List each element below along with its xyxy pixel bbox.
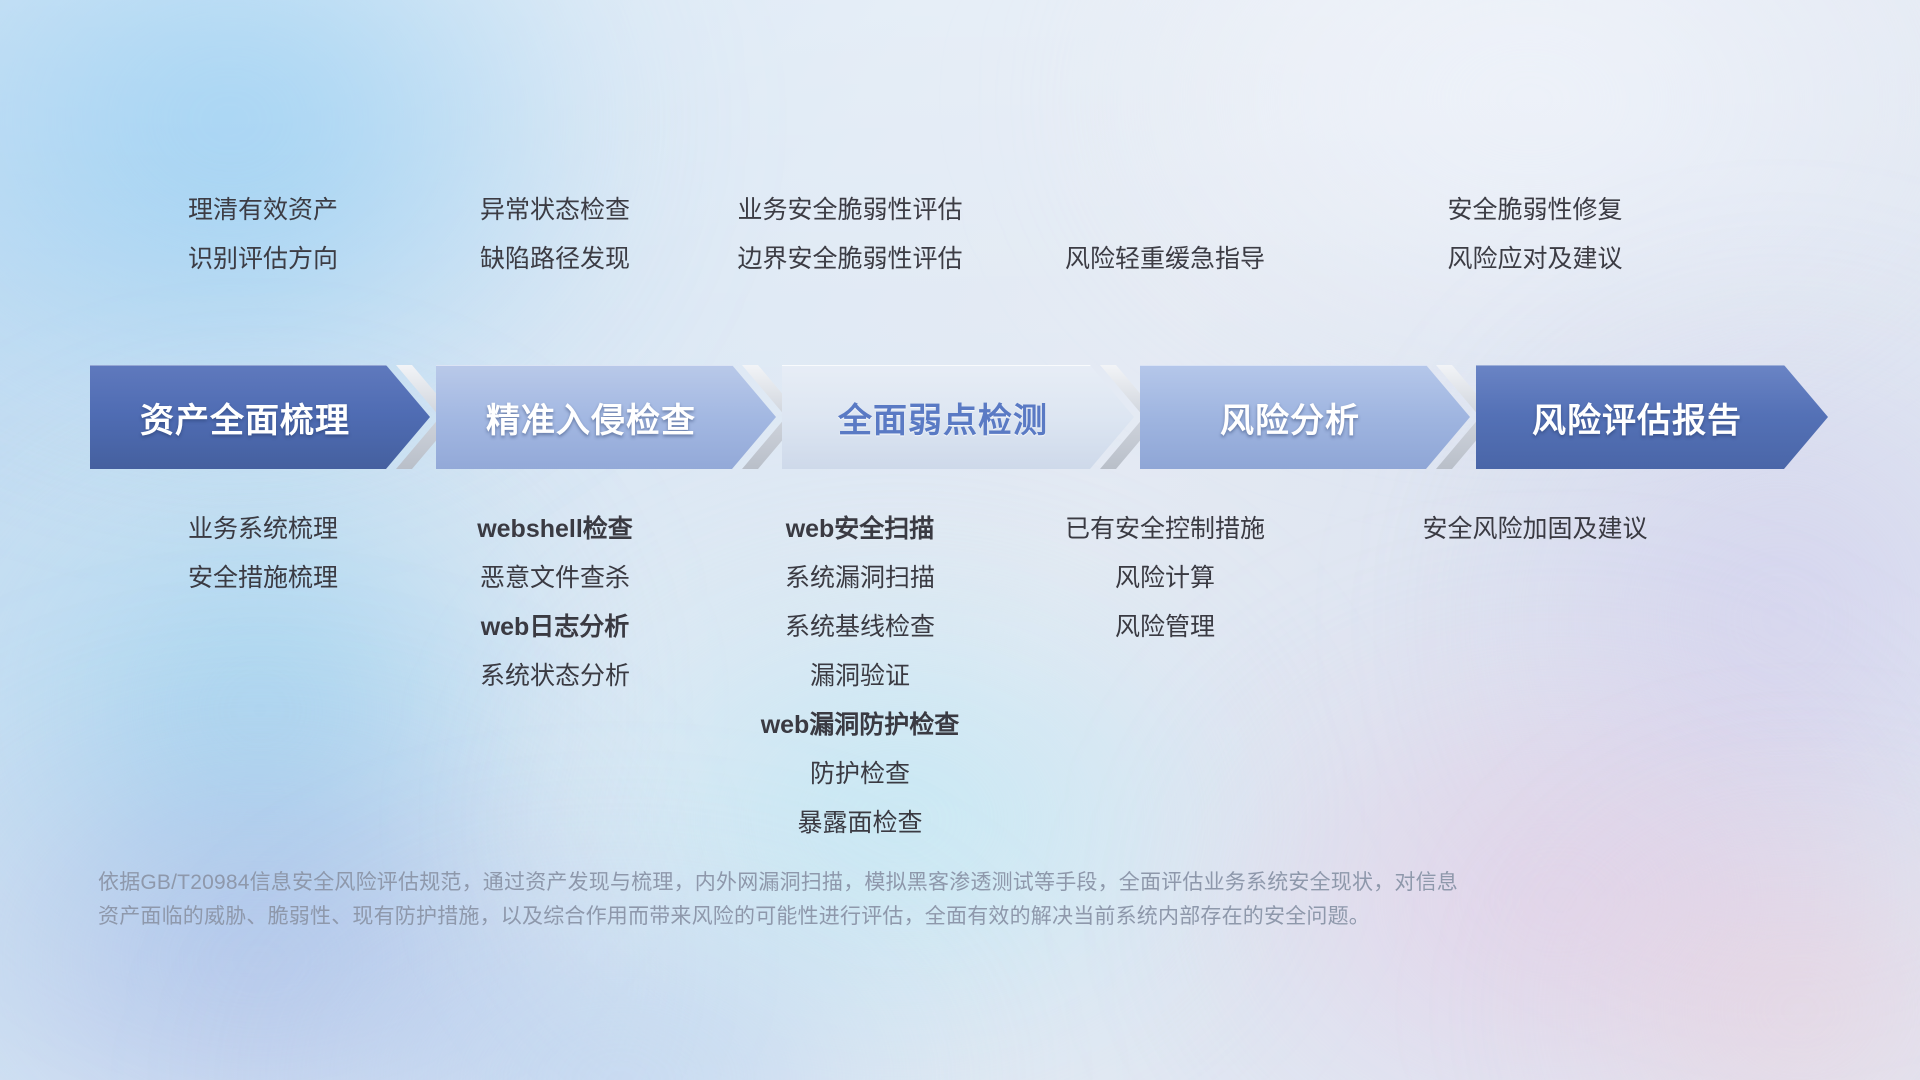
footer-description: 依据GB/T20984信息安全风险评估规范，通过资产发现与梳理，内外网漏洞扫描，… [98,866,1628,934]
stage-3-top-item: 业务安全脆弱性评估 [590,186,1110,235]
chevron-stage-5[interactable]: 风险评估报告 [1476,365,1828,469]
diagram-content: 理清有效资产 识别评估方向 异常状态检查 缺陷路径发现 业务安全脆弱性评估 边界… [0,0,1920,1080]
chevron-stage-4[interactable]: 风险分析 [1140,365,1470,469]
stage-5-bottom-list: 安全风险加固及建议 [1270,505,1800,554]
stage-5-bottom-item: 安全风险加固及建议 [1270,505,1800,554]
process-chevron-band: 资产全面梳理 精准入侵检查 全面弱点检测 风险分析 风险评估报告 [0,365,1920,469]
slide-canvas: 理清有效资产 识别评估方向 异常状态检查 缺陷路径发现 业务安全脆弱性评估 边界… [0,0,1920,1080]
stage-4-bottom-item: 风险计算 [930,554,1400,603]
chevron-stage-4-label: 风险分析 [1140,393,1470,442]
stage-3-bottom-item: 暴露面检查 [610,799,1110,848]
chevron-stage-3[interactable]: 全面弱点检测 [782,365,1134,469]
chevron-stage-2-label: 精准入侵检查 [436,393,776,442]
stage-3-bottom-item: 防护检查 [610,750,1110,799]
stage-3-bottom-item: 漏洞验证 [610,652,1110,701]
stage-3-bottom-item: web漏洞防护检查 [610,701,1110,750]
footer-line-2: 资产面临的威胁、脆弱性、现有防护措施，以及综合作用而带来风险的可能性进行评估，全… [98,900,1628,934]
footer-line-1: 依据GB/T20984信息安全风险评估规范，通过资产发现与梳理，内外网漏洞扫描，… [98,866,1628,900]
chevron-stage-3-label: 全面弱点检测 [782,393,1134,442]
stage-5-top-item: 风险应对及建议 [1300,235,1770,284]
chevron-stage-5-label: 风险评估报告 [1476,393,1828,442]
chevron-stage-2[interactable]: 精准入侵检查 [436,365,776,469]
chevron-stage-1-label: 资产全面梳理 [90,393,430,442]
stage-5-top-item: 安全脆弱性修复 [1300,186,1770,235]
chevron-stage-1[interactable]: 资产全面梳理 [90,365,430,469]
stage-5-top-list: 安全脆弱性修复 风险应对及建议 [1300,186,1770,284]
stage-4-bottom-item: 风险管理 [930,603,1400,652]
